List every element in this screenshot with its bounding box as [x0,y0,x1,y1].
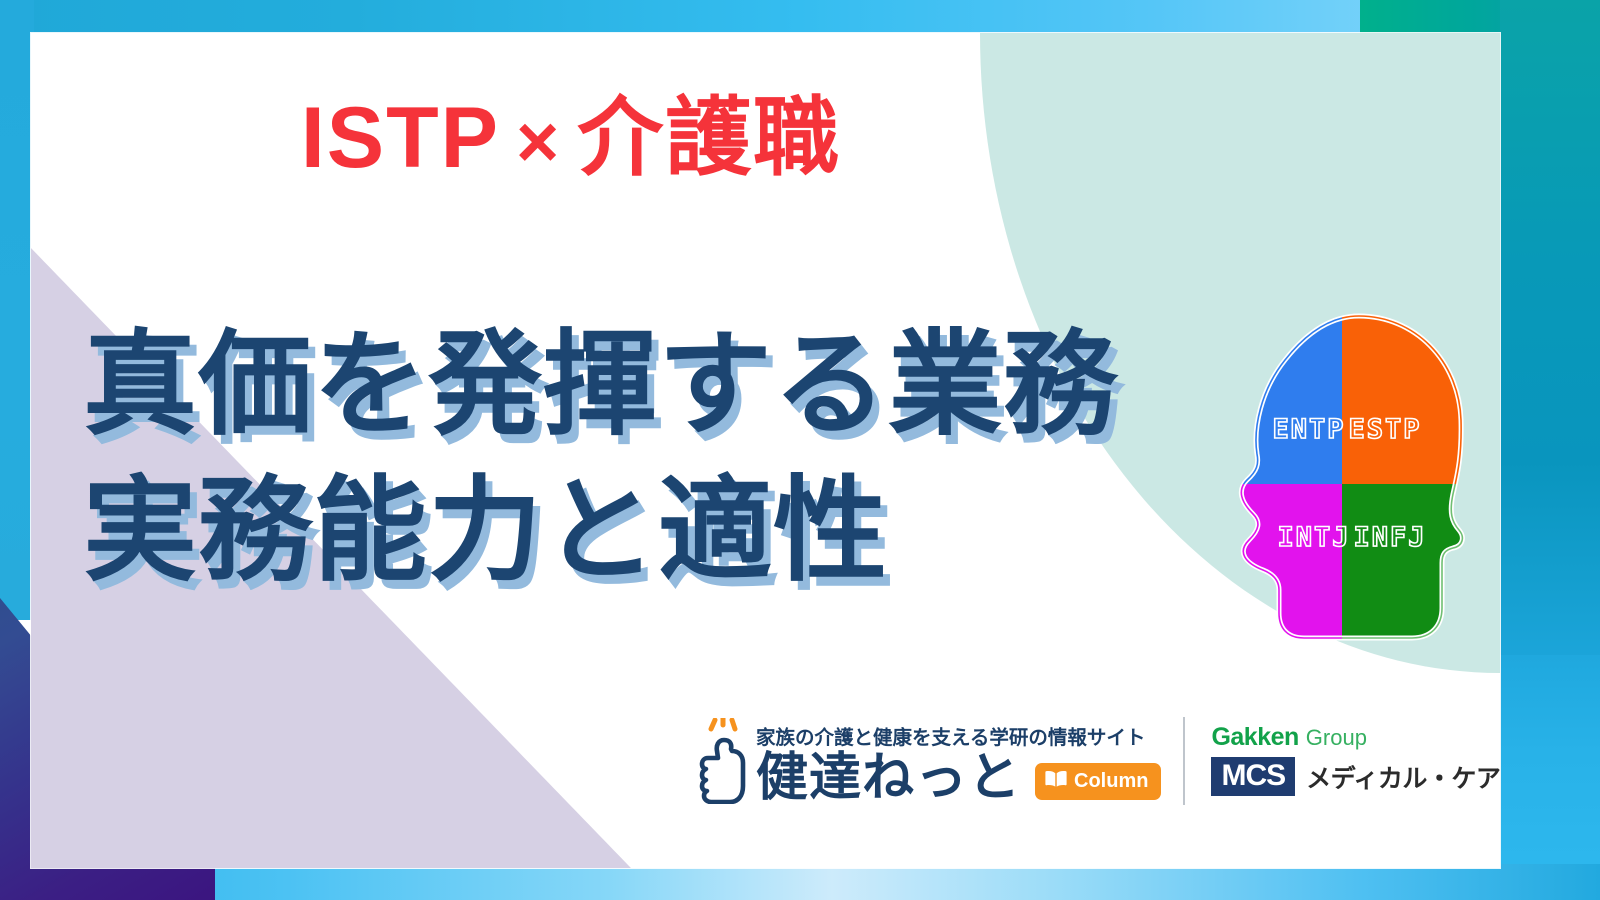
mcs-abbr-badge: MCS [1211,757,1295,796]
thumbs-up-icon [696,718,750,804]
gakken-mcs-logo[interactable]: Gakken Group MCS メディカル・ケア・サービス [1211,725,1500,796]
frame-band-right-upper [1500,0,1600,660]
sparkle-rays [711,718,735,729]
quadrant-label-estp: ESTP [1348,414,1421,445]
column-badge[interactable]: Column [1035,763,1161,800]
content-card: ISTP×介護職 真価を発揮する業務 実務能力と適性 [31,33,1500,868]
quadrant-fill-estp [1342,308,1474,484]
brand-name: 健達ねっと [756,752,1021,804]
card-content: ISTP×介護職 真価を発揮する業務 実務能力と適性 [31,33,1500,868]
headline-line-1: 真価を発揮する業務 [83,313,1203,459]
kentatsu-text-block: 家族の介護と健康を支える学研の情報サイト 健達ねっと C [756,721,1161,804]
gakken-wordmark: Gakken [1211,725,1298,750]
quadrant-fill-entp [1209,308,1342,484]
open-book-icon [1045,770,1067,793]
footer-logo-bar: 家族の介護と健康を支える学研の情報サイト 健達ねっと C [696,698,1486,823]
kentatsu-net-logo[interactable]: 家族の介護と健康を支える学研の情報サイト 健達ねっと C [696,718,1161,804]
quadrant-fill-infj [1342,484,1474,653]
mcs-full-name: メディカル・ケア・サービス [1306,759,1500,795]
mcs-row: MCS メディカル・ケア・サービス [1211,757,1500,796]
column-badge-label: Column [1074,770,1148,793]
frame-band-bottom [0,864,1600,900]
quadrant-fill-intj [1209,484,1342,653]
gakken-group-row: Gakken Group [1211,725,1500,750]
brand-row: 健達ねっと Column [756,752,1161,804]
headline-line-2: 実務能力と適性 [83,459,1203,605]
quadrant-label-infj: INFJ [1353,522,1426,553]
quadrant-label-intj: INTJ [1277,522,1350,553]
kicker-separator: × [500,100,577,183]
mbti-head-diagram: ENTP ESTP INTJ INFJ [1209,308,1474,653]
quadrant-label-entp: ENTP [1272,414,1345,445]
kicker-title: ISTP×介護職 [31,93,1111,183]
kicker-type-code: ISTP [301,90,500,186]
site-tagline: 家族の介護と健康を支える学研の情報サイト [756,721,1161,750]
kicker-job: 介護職 [577,90,841,186]
thumb-outline [702,740,743,802]
banner-canvas: ISTP×介護職 真価を発揮する業務 実務能力と適性 [0,0,1600,900]
frame-band-left [0,0,34,620]
page-title: 真価を発揮する業務 実務能力と適性 [83,313,1203,605]
gakken-group-label: Group [1306,727,1367,749]
footer-divider [1183,717,1185,805]
